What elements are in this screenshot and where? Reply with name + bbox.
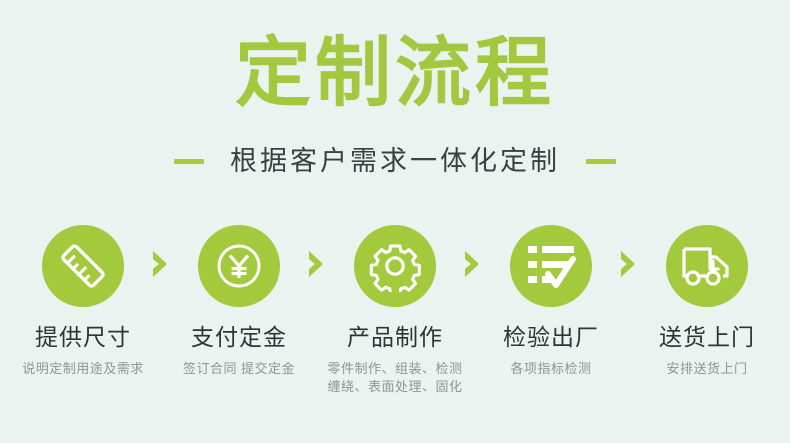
subtitle-left-dash-icon — [174, 159, 204, 164]
step-5-icon-circle — [666, 225, 748, 307]
step-1-icon-circle — [42, 225, 124, 307]
step-1-label: 提供尺寸 — [35, 323, 131, 351]
delivery-truck-icon — [681, 243, 733, 289]
step-5-label: 送货上门 — [659, 323, 755, 351]
process-step-1: 提供尺寸 说明定制用途及需求 — [10, 225, 156, 378]
step-1-caption-line-1: 说明定制用途及需求 — [22, 360, 144, 378]
process-step-5: 送货上门 安排送货上门 — [634, 225, 780, 378]
step-2-caption-line-1: 签订合同 提交定金 — [183, 360, 295, 378]
yuan-coin-icon — [213, 240, 265, 292]
subtitle-block: 根据客户需求一体化定制 — [0, 145, 790, 177]
process-step-3: 产品制作 零件制作、组装、检测 缠绕、表面处理、固化 — [322, 225, 468, 396]
page-title: 定制流程 — [0, 32, 790, 116]
step-3-caption-line-1: 零件制作、组装、检测 — [327, 360, 462, 378]
step-5-caption-line-1: 安排送货上门 — [666, 360, 747, 378]
process-step-2: 支付定金 签订合同 提交定金 — [166, 225, 312, 378]
step-5-caption: 安排送货上门 — [666, 360, 747, 378]
step-3-label: 产品制作 — [347, 323, 443, 351]
step-4-icon-circle — [510, 225, 592, 307]
page-subtitle: 根据客户需求一体化定制 — [230, 145, 560, 177]
step-2-caption: 签订合同 提交定金 — [183, 360, 295, 378]
step-2-icon-circle — [198, 225, 280, 307]
process-step-4: 检验出厂 各项指标检测 — [478, 225, 624, 378]
checklist-icon — [526, 242, 576, 290]
step-4-caption: 各项指标检测 — [510, 360, 591, 378]
step-1-caption: 说明定制用途及需求 — [22, 360, 144, 378]
ruler-icon — [57, 240, 109, 292]
step-2-label: 支付定金 — [191, 323, 287, 351]
subtitle-right-dash-icon — [586, 159, 616, 164]
page-title-block: 定制流程 — [0, 32, 790, 116]
gear-icon — [369, 240, 421, 292]
process-steps: 提供尺寸 说明定制用途及需求 — [0, 225, 790, 396]
step-4-caption-line-1: 各项指标检测 — [510, 360, 591, 378]
step-3-caption-line-2: 缠绕、表面处理、固化 — [327, 378, 462, 396]
step-3-icon-circle — [354, 225, 436, 307]
custom-process-banner: 定制流程 根据客户需求一体化定制 — [0, 0, 790, 443]
step-4-label: 检验出厂 — [503, 323, 599, 351]
step-3-caption: 零件制作、组装、检测 缠绕、表面处理、固化 — [327, 360, 462, 396]
